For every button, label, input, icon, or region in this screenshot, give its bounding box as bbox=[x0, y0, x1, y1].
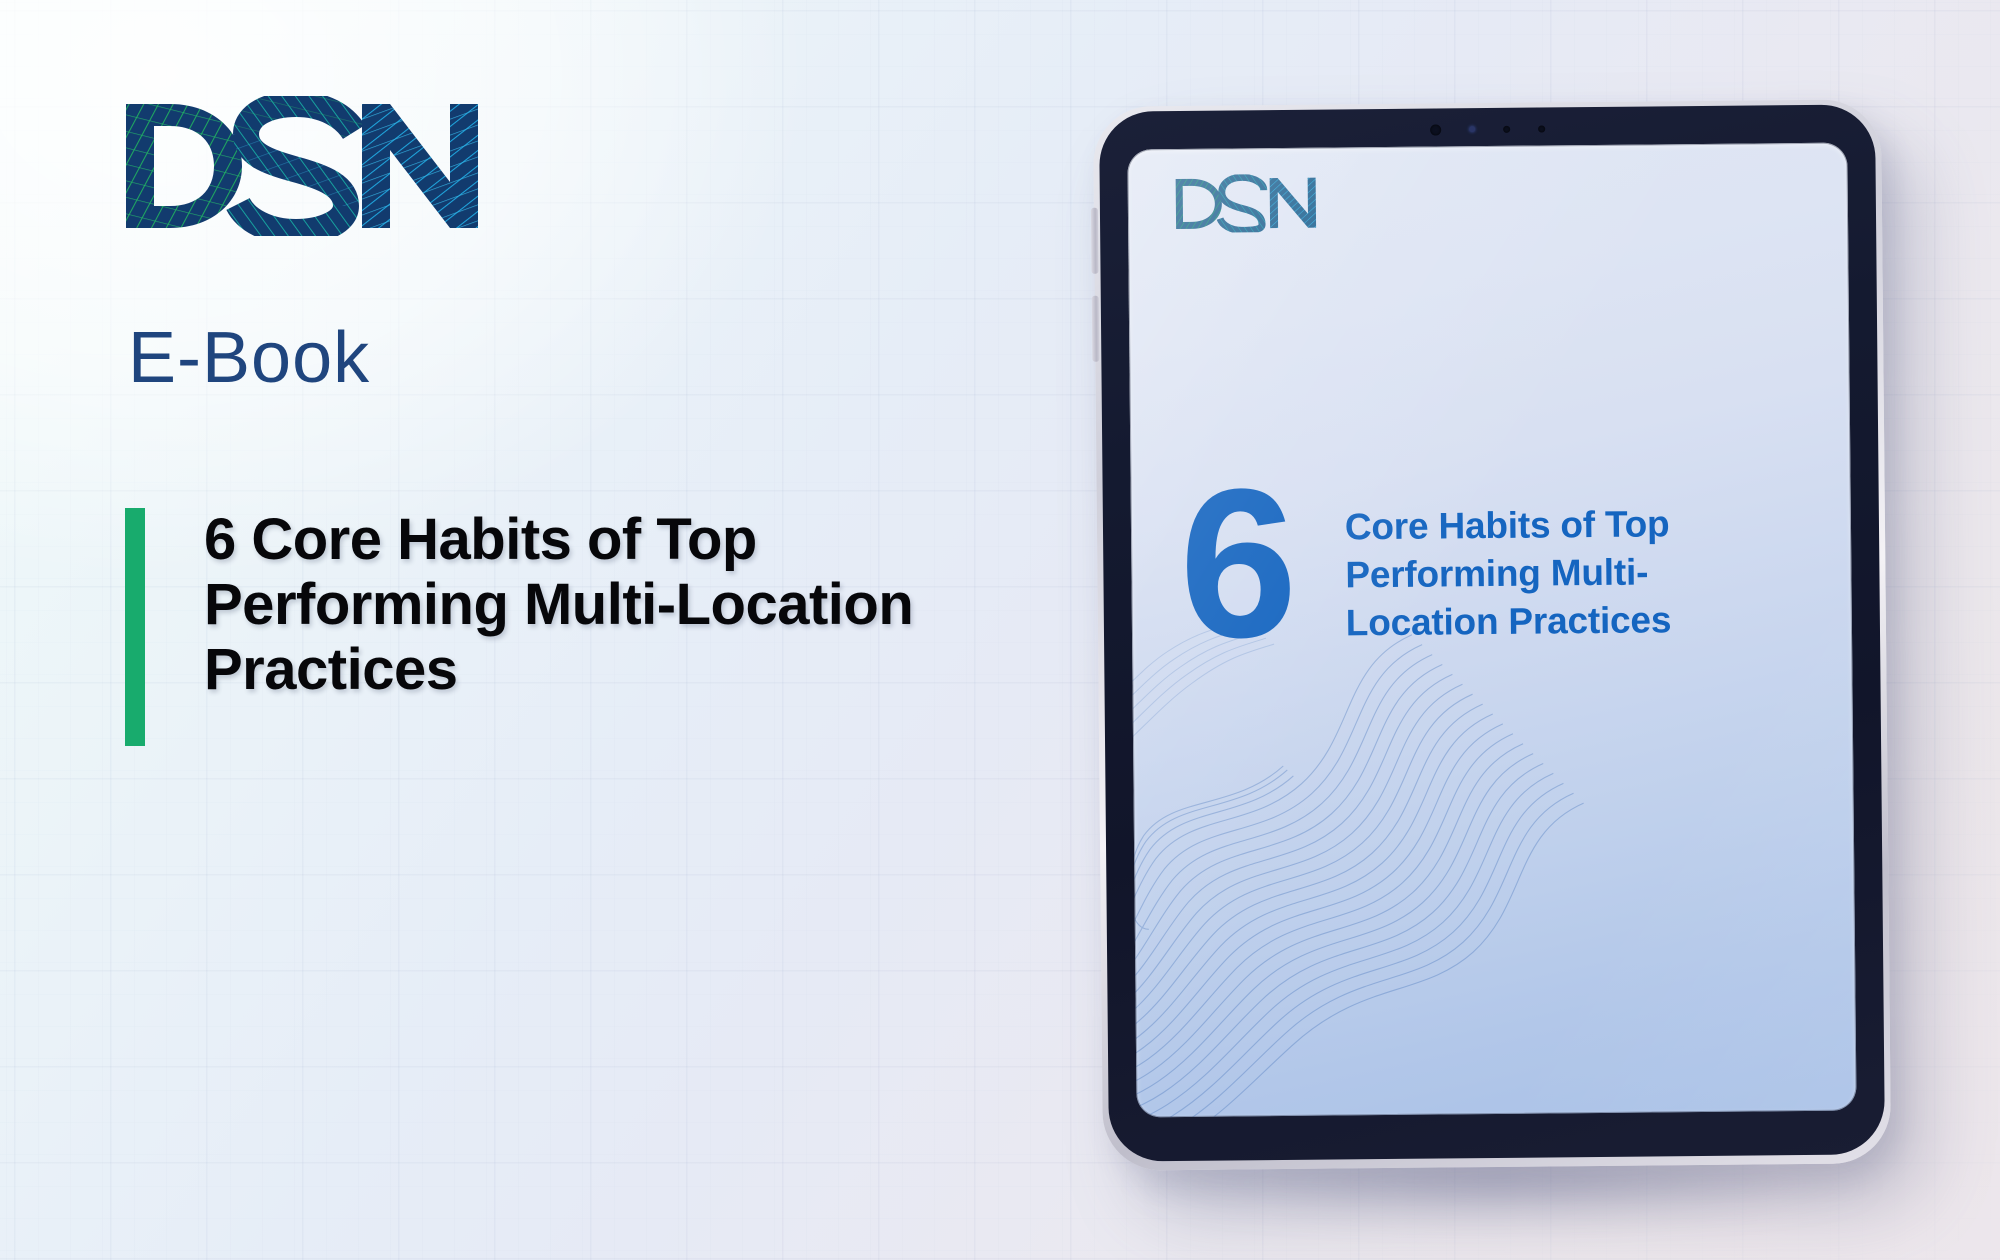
front-camera-sensor-icon bbox=[1430, 124, 1441, 135]
screen-dsn-wordmark-logo bbox=[1172, 174, 1325, 233]
volume-down-button[interactable] bbox=[1092, 296, 1100, 362]
tablet-sensor-strip bbox=[1337, 120, 1637, 139]
volume-up-button[interactable] bbox=[1091, 208, 1099, 274]
ambient-light-sensor-icon bbox=[1469, 126, 1475, 132]
dsn-wordmark-logo bbox=[118, 96, 498, 236]
green-accent-bar bbox=[125, 508, 145, 746]
screen-cover-content: 6 Core Habits of Top Performing Multi-Lo… bbox=[1179, 473, 1825, 649]
headline-block: 6 Core Habits of Top Performing Multi-Lo… bbox=[125, 508, 964, 746]
tablet-screen[interactable]: 6 Core Habits of Top Performing Multi-Lo… bbox=[1127, 143, 1856, 1118]
left-content-panel: E-Book 6 Core Habits of Top Performing M… bbox=[0, 0, 1060, 1260]
cover-number: 6 bbox=[1179, 480, 1292, 646]
ebook-promo-canvas: E-Book 6 Core Habits of Top Performing M… bbox=[0, 0, 2000, 1260]
ebook-eyebrow-label: E-Book bbox=[128, 322, 370, 394]
tablet-device: 6 Core Habits of Top Performing Multi-Lo… bbox=[1099, 104, 1885, 1161]
page-title: 6 Core Habits of Top Performing Multi-Lo… bbox=[204, 508, 964, 746]
cover-title: Core Habits of Top Performing Multi-Loca… bbox=[1345, 500, 1736, 648]
topographic-waves-decoration bbox=[1127, 622, 1737, 1118]
face-id-dot-projector-icon bbox=[1503, 125, 1510, 132]
infrared-camera-sensor-icon bbox=[1538, 125, 1545, 132]
tablet-bezel: 6 Core Habits of Top Performing Multi-Lo… bbox=[1099, 104, 1885, 1161]
